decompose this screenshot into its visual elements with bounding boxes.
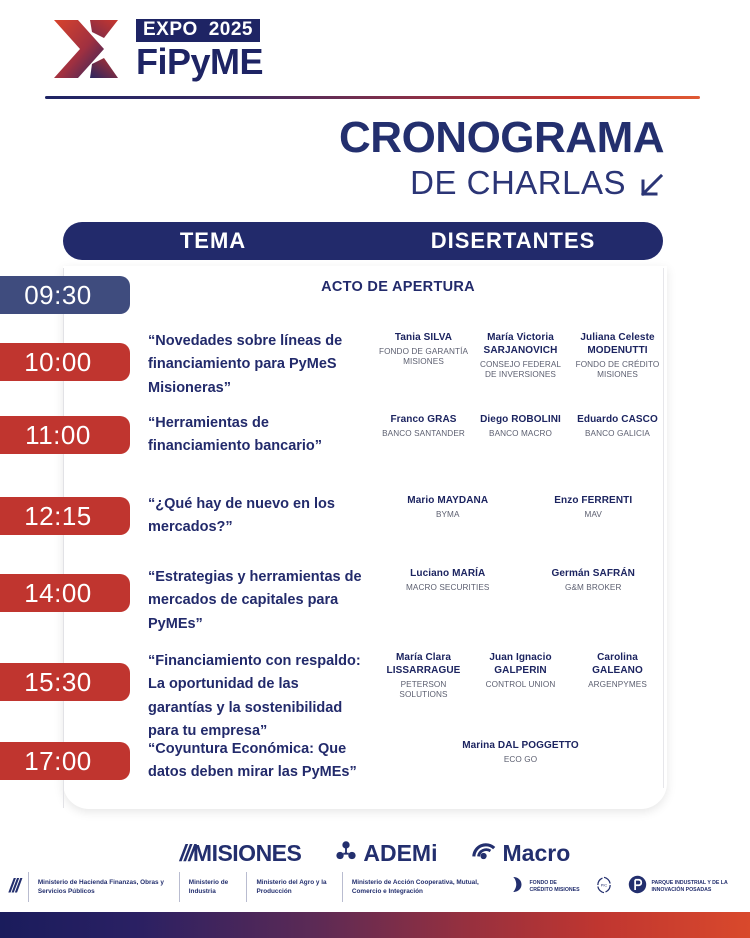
speaker-name: Juan Ignacio GALPERIN [475, 652, 566, 678]
speakers-group: María Clara LISSARRAGUEPETERSON SOLUTION… [378, 652, 663, 701]
speaker-name: Carolina GALEANO [572, 652, 663, 678]
speaker-org: MAV [524, 510, 664, 521]
speaker-org: CONSEJO FEDERAL DE INVERSIONES [475, 360, 566, 381]
time-badge: 15:30 [0, 663, 130, 701]
speaker-org: CONTROL UNION [475, 680, 566, 691]
speaker: Germán SAFRÁNG&M BROKER [524, 568, 664, 593]
ministry-label: Ministerio de Hacienda Finanzas, Obras y… [38, 878, 170, 896]
macro-label: Macro [503, 840, 571, 867]
ministry-item: Ministerio del Agro y la Producción [246, 872, 341, 902]
title-main: CRONOGRAMA [339, 116, 664, 161]
speaker: Mario MAYDANABYMA [378, 495, 518, 520]
expo-year: 2025 [209, 20, 253, 40]
column-header-tema: TEMA [63, 228, 363, 254]
ministry-item: Ministerio de Industria [179, 872, 247, 902]
speaker-name: Juliana Celeste MODENUTTI [572, 332, 663, 358]
pic-icon: PIC [594, 875, 614, 900]
expo-label: EXPO [143, 20, 198, 40]
speaker-name: Germán SAFRÁN [524, 568, 664, 581]
speaker-org: BANCO SANTANDER [378, 429, 469, 440]
time-badge: 09:30 [0, 276, 130, 314]
ministry-item: Ministerio de Hacienda Finanzas, Obras y… [28, 872, 179, 902]
speaker: María Clara LISSARRAGUEPETERSON SOLUTION… [378, 652, 469, 701]
topic-text: “Estrategias y herramientas de mercados … [148, 566, 363, 636]
time-badge: 10:00 [0, 343, 130, 381]
fipyme-wordmark: FiPyME [136, 45, 263, 79]
speaker: Juliana Celeste MODENUTTIFONDO DE CRÉDIT… [572, 332, 663, 381]
speaker: Tania SILVAFONDO DE GARANTÍA MISIONES [378, 332, 469, 368]
ademi-label: ADEMi [363, 840, 437, 867]
time-badge: 12:15 [0, 497, 130, 535]
speaker-org: ARGENPYMES [572, 680, 663, 691]
bottom-gradient-stripe [0, 912, 750, 938]
table-header-bar: TEMA DISERTANTES [63, 222, 663, 260]
expo-year-bar: EXPO 2025 [136, 19, 260, 42]
expo-fipyme-logo: EXPO 2025 FiPyME [50, 16, 263, 82]
topic-text: “¿Qué hay de nuevo en los mercados?” [148, 493, 363, 540]
ademi-mark-icon [335, 839, 357, 867]
pic-logo: PIC [587, 875, 621, 900]
parque-industrial-label: PARQUE INDUSTRIAL Y DE LA INNOVACIÓN POS… [651, 880, 743, 894]
speaker-name: Mario MAYDANA [378, 495, 518, 508]
time-badge: 14:00 [0, 574, 130, 612]
cronograma-poster: EXPO 2025 FiPyME CRONOGRAMA DE CHARLAS T… [0, 0, 750, 938]
fondo-credito-logo: FONDO DE CRÉDITO MISIONES [504, 875, 588, 899]
title-subtitle-row: DE CHARLAS [339, 165, 664, 201]
x-arrow-logo-icon [50, 16, 122, 82]
speaker-name: Franco GRAS [378, 414, 469, 427]
speaker-org: BANCO MACRO [475, 429, 566, 440]
topic-text: ACTO DE APERTURA [148, 276, 648, 299]
speakers-group: Marina DAL POGGETTOECO GO [378, 740, 663, 765]
speaker-org: BANCO GALICIA [572, 429, 663, 440]
speaker-name: Eduardo CASCO [572, 414, 663, 427]
speaker-name: Enzo FERRENTI [524, 495, 664, 508]
speaker-org: G&M BROKER [524, 583, 664, 594]
macro-mark-icon [472, 838, 496, 868]
speakers-group: Mario MAYDANABYMAEnzo FERRENTIMAV [378, 495, 663, 520]
speaker-org: BYMA [378, 510, 518, 521]
speaker-name: Diego ROBOLINI [475, 414, 566, 427]
speaker-name: Marina DAL POGGETTO [378, 740, 663, 753]
ministry-label: Ministerio de Acción Cooperativa, Mutual… [352, 878, 495, 896]
macro-logo: Macro [472, 838, 571, 868]
speaker-name: Luciano MARÍA [378, 568, 518, 581]
topic-text: “Financiamiento con respaldo: La oportun… [148, 650, 363, 744]
speaker: Eduardo CASCOBANCO GALICIA [572, 414, 663, 439]
parque-industrial-logo: PARQUE INDUSTRIAL Y DE LA INNOVACIÓN POS… [621, 875, 750, 899]
misiones-mark-icon: /// [180, 840, 193, 867]
speaker-name: Tania SILVA [378, 332, 469, 345]
topic-text: “Coyuntura Económica: Que datos deben mi… [148, 738, 363, 785]
right-column-divider [663, 268, 664, 788]
misiones-small-mark-icon: /// [0, 872, 28, 902]
speaker-org: FONDO DE CRÉDITO MISIONES [572, 360, 663, 381]
speaker-name: María Victoria SARJANOVICH [475, 332, 566, 358]
speaker: María Victoria SARJANOVICHCONSEJO FEDERA… [475, 332, 566, 381]
misiones-logo: ///MISIONES [180, 840, 302, 867]
speaker-org: PETERSON SOLUTIONS [378, 680, 469, 701]
speaker-org: FONDO DE GARANTÍA MISIONES [378, 347, 469, 368]
parque-industrial-icon [628, 875, 647, 899]
speakers-group: Franco GRASBANCO SANTANDERDiego ROBOLINI… [378, 414, 663, 439]
misiones-label: MISIONES [193, 840, 301, 867]
sponsor-logos: ///MISIONES ADEMi Macro [0, 838, 750, 868]
speakers-group: Tania SILVAFONDO DE GARANTÍA MISIONESMar… [378, 332, 663, 381]
topic-text: “Herramientas de financiamiento bancario… [148, 412, 363, 459]
ademi-logo: ADEMi [335, 839, 437, 867]
speaker-org: MACRO SECURITIES [378, 583, 518, 594]
time-badge: 11:00 [0, 416, 130, 454]
svg-text:PIC: PIC [601, 883, 608, 887]
fondo-credito-label: FONDO DE CRÉDITO MISIONES [530, 880, 581, 894]
speaker: Carolina GALEANOARGENPYMES [572, 652, 663, 690]
speaker: Diego ROBOLINIBANCO MACRO [475, 414, 566, 439]
ministry-item: Ministerio de Acción Cooperativa, Mutual… [342, 872, 504, 902]
title-sub: DE CHARLAS [410, 165, 626, 201]
speaker-name: María Clara LISSARRAGUE [378, 652, 469, 678]
speaker: Juan Ignacio GALPERINCONTROL UNION [475, 652, 566, 690]
topic-text: “Novedades sobre líneas de financiamient… [148, 330, 363, 400]
arrow-down-left-icon [638, 170, 664, 196]
fondo-credito-icon [511, 875, 526, 899]
ministry-label: Ministerio del Agro y la Producción [256, 878, 332, 896]
column-header-disertantes: DISERTANTES [363, 228, 663, 254]
speaker: Enzo FERRENTIMAV [524, 495, 664, 520]
ministry-label: Ministerio de Industria [189, 878, 238, 896]
speaker: Franco GRASBANCO SANTANDER [378, 414, 469, 439]
ministry-logos: /// Ministerio de Hacienda Finanzas, Obr… [0, 872, 750, 902]
speaker: Luciano MARÍAMACRO SECURITIES [378, 568, 518, 593]
page-title: CRONOGRAMA DE CHARLAS [339, 116, 664, 201]
logo-wordmark: EXPO 2025 FiPyME [136, 19, 263, 79]
speaker-org: ECO GO [378, 755, 663, 766]
time-badge: 17:00 [0, 742, 130, 780]
speaker: Marina DAL POGGETTOECO GO [378, 740, 663, 765]
header-divider-rule [45, 96, 700, 99]
speakers-group: Luciano MARÍAMACRO SECURITIESGermán SAFR… [378, 568, 663, 593]
